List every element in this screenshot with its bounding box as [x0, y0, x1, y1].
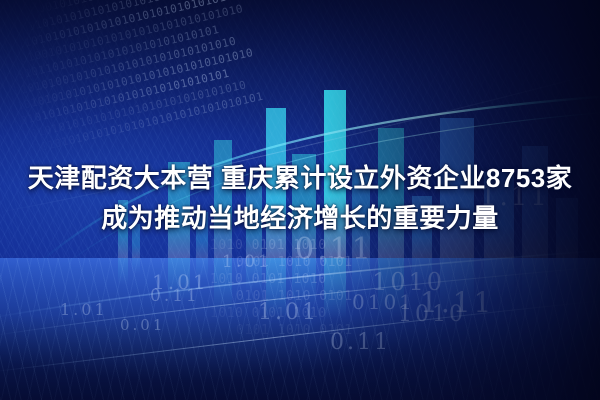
headline-line-2: 成为推动当地经济增长的重要力量: [0, 198, 600, 238]
banner-image: 0101010101010101010101010101010101010101…: [0, 0, 600, 400]
headline: 天津配资大本营 重庆累计设立外资企业8753家 成为推动当地经济增长的重要力量: [0, 158, 600, 238]
headline-line-1: 天津配资大本营 重庆累计设立外资企业8753家: [0, 158, 600, 198]
